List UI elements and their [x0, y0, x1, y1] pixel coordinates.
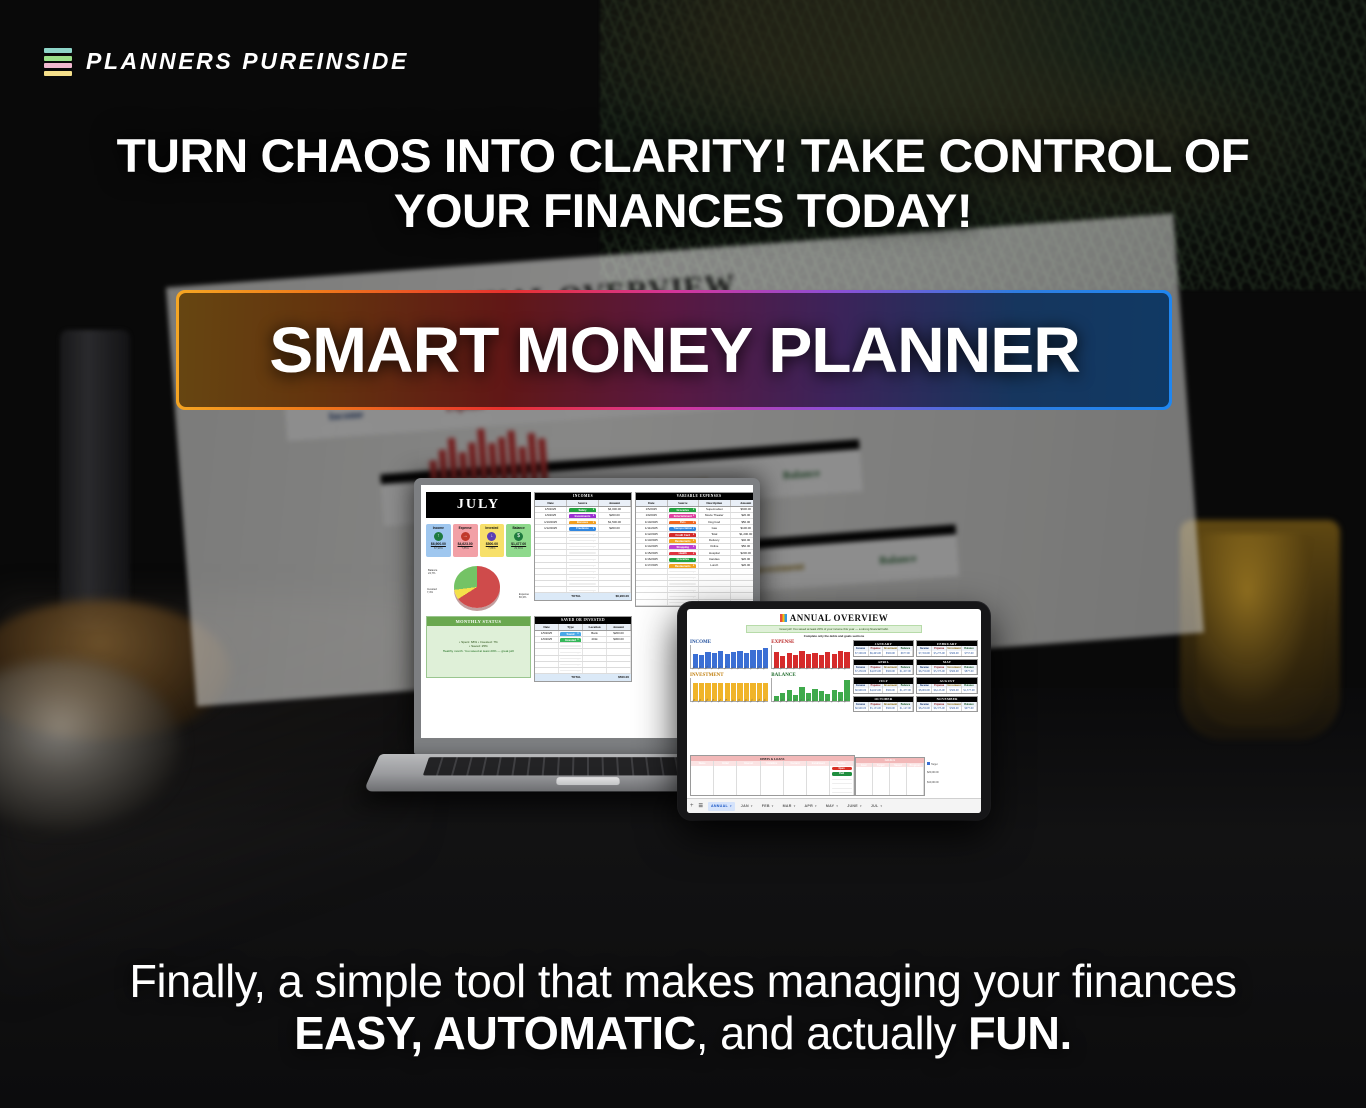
- cell-amount: $40.00: [731, 538, 754, 543]
- cell-source[interactable]: Shopping: [668, 544, 700, 549]
- col-header: Source: [567, 500, 599, 506]
- kpi-icon: ↓: [487, 532, 496, 541]
- cell-description: Supermarket: [699, 507, 731, 512]
- incomes-total-value: $6,900.00: [583, 593, 631, 600]
- variable-expenses-table[interactable]: VARIABLE EXPENSES DateSourceDescriptionA…: [635, 492, 753, 607]
- kpi-icon: →: [461, 532, 470, 541]
- cell-value: $877.00: [962, 670, 977, 675]
- kpi-label: Invested: [481, 526, 504, 530]
- col-header: Date: [535, 500, 567, 506]
- cell-location: 401k: [583, 637, 607, 642]
- cell-value: $500.00: [883, 651, 898, 656]
- saved-invested-title: SAVED OR INVESTED: [535, 617, 631, 624]
- kpi-percent: 7,85%: [481, 547, 504, 550]
- spreadsheet-tab-bar[interactable]: + ☰ ANNUAL▾ JAN▾ FEB▾ MAR▾ APR▾ MAY▾ JUN…: [687, 798, 981, 813]
- cell-goal: [856, 790, 873, 795]
- month-table-april[interactable]: APRIL IncomeExpenseInvestmentBalance $7,…: [853, 659, 915, 676]
- month-value-row: $7,500.00$6,493.00$500.00$677.00: [854, 651, 914, 656]
- cell-source[interactable]: Investments: [567, 513, 599, 518]
- goals-table[interactable]: GOALS GoalTargetSavedProgress Economy $5…: [855, 757, 926, 796]
- month-value-row: $7,250.00$4,053.00$500.00$1,457.00: [854, 670, 914, 675]
- cell-value: $500.00: [947, 707, 962, 712]
- cell-description: Dog food: [699, 519, 731, 524]
- cell-amount: $20.00: [731, 513, 754, 518]
- col-header: Source: [668, 500, 700, 506]
- cell-amount: $100.00: [731, 525, 754, 530]
- bar-chart-icon: [780, 614, 787, 622]
- saved-invested-header-row: DateTypeLocationAmount: [535, 624, 631, 631]
- cell-value: $6,750.00: [917, 670, 932, 675]
- incomes-table-title: INCOMES: [535, 493, 631, 500]
- cell-value: $977.00: [962, 707, 977, 712]
- cell-value: $6,900.00: [854, 707, 869, 712]
- cell-amount: $600.00: [731, 507, 754, 512]
- cell-date: 1/13/2025: [636, 538, 668, 543]
- product-title-box: SMART MONEY PLANNER: [176, 290, 1172, 410]
- lamp-decor: [60, 330, 130, 630]
- cell-value: $500.00: [947, 670, 962, 675]
- month-table-pair: JULY IncomeExpenseInvestmentBalance $6,9…: [853, 677, 978, 696]
- annual-overview-title: ANNUAL OVERVIEW: [687, 609, 981, 624]
- monthly-status-line3: Healthy month. You saved at least 20% — …: [431, 649, 526, 654]
- cell-source[interactable]: Groceries: [668, 556, 700, 561]
- debts-rows: Student Loan $2,000.00 3% 10 3 $240.00 O…: [691, 766, 854, 795]
- cell-date: 1/11/2025: [636, 525, 668, 530]
- cell-amount: $200.00: [607, 631, 631, 636]
- chevron-down-icon[interactable]: ▾: [860, 804, 862, 808]
- debts-loans-table[interactable]: DEBTS & LOANS NameInitialInterestInstall…: [690, 755, 855, 796]
- monthly-status-panel: MONTHLY STATUS • Spent: 68% • Invested: …: [426, 616, 531, 678]
- monthly-status-title: MONTHLY STATUS: [427, 617, 530, 626]
- cell-progress: 0,00%: [907, 790, 924, 795]
- cell-value: $500.00: [883, 670, 898, 675]
- cell-value: $5,275.00: [932, 651, 947, 656]
- cell-description: Movie Theater: [699, 513, 731, 518]
- chart-x-labels: JANFEBMARAPRMAYJUNJULAUGSEPOCTNOVDEC: [771, 702, 849, 704]
- incomes-rows: 1/5/2025 Salary $4,000.00 1/9/2025 Inves…: [535, 507, 631, 594]
- month-title-banner: JULY: [426, 492, 531, 518]
- sheet-tab-jul[interactable]: JUL▾: [868, 802, 886, 811]
- col-header: Date: [636, 500, 668, 506]
- saved-total-label: TOTAL: [535, 674, 583, 681]
- cell-date: 1/10/2025: [535, 519, 567, 524]
- tab-label: ANNUAL: [711, 804, 728, 808]
- cell-value: $5,153.00: [869, 707, 884, 712]
- kpi-value: $500.00: [481, 542, 504, 546]
- cell-amount: $20.00: [731, 563, 754, 568]
- cell-date: 1/16/2025: [636, 556, 668, 561]
- incomes-header-row: DateSourceAmount: [535, 500, 631, 507]
- goals-chart: GOALS Target $20,000.00 $10,000.00: [927, 757, 978, 796]
- cell-source[interactable]: Pets: [668, 519, 700, 524]
- month-value-row: $6,900.00$4,623.00$500.00$1,477.00: [854, 688, 914, 693]
- cell-description: Lunch: [699, 563, 731, 568]
- table-row: 0,00%: [856, 790, 925, 795]
- tagline-bold1: EASY, AUTOMATIC: [294, 1007, 696, 1059]
- cell-source[interactable]: Bonuses: [567, 519, 599, 524]
- month-table-may[interactable]: MAY IncomeExpenseInvestmentBalance $6,75…: [916, 659, 978, 676]
- cell-value: $500.00: [947, 651, 962, 656]
- cell-value: $7,350.00: [917, 651, 932, 656]
- sheet-tab-jan[interactable]: JAN▾: [738, 802, 756, 811]
- chart-investment: INVESTMENT JANFEBMARAPRMAYJUNJULAUGSEPOC…: [690, 673, 768, 704]
- kpi-card-balance: Balance $ $1,477.00 29,66%: [506, 524, 531, 557]
- logo-bar: [44, 56, 72, 61]
- page-headline: TURN CHAOS INTO CLARITY! TAKE CONTROL OF…: [0, 128, 1366, 239]
- chevron-down-icon[interactable]: ▾: [794, 804, 796, 808]
- month-tables-grid: JANUARY IncomeExpenseInvestmentBalance $…: [853, 640, 978, 714]
- cell-description: Gas: [699, 525, 731, 530]
- chevron-down-icon[interactable]: ▾: [751, 804, 753, 808]
- cell-date: 1/12/2025: [535, 525, 567, 530]
- tab-label: JUL: [871, 804, 879, 808]
- cell-source[interactable]: Freelance: [567, 525, 599, 530]
- chart-income: INCOME JANFEBMARAPRMAYJUNJULAUGSEPOCTNOV…: [690, 640, 768, 671]
- brand-name: PLANNERS PUREINSIDE: [86, 48, 409, 75]
- cell-value: $500.00: [883, 707, 898, 712]
- cell-type[interactable]: Saved: [559, 631, 583, 636]
- cell-value: $500.00: [883, 688, 898, 693]
- col-header: Amount: [607, 624, 631, 630]
- cell-amount: $200.00: [599, 513, 631, 518]
- logo-bar: [44, 71, 72, 76]
- pie-graphic: [454, 566, 500, 608]
- month-table-february[interactable]: FEBRUARY IncomeExpenseInvestmentBalance …: [916, 640, 978, 657]
- kpi-percent: 29,66%: [507, 547, 530, 550]
- month-value-row: $6,900.00$5,153.00$500.00$1,147.00: [854, 707, 914, 712]
- month-value-row: $8,250.00$6,375.00$500.00$977.00: [917, 707, 977, 712]
- col-header: Amount: [599, 500, 631, 506]
- chevron-down-icon[interactable]: ▾: [881, 804, 883, 808]
- cell-value: $1,457.00: [898, 670, 913, 675]
- balance-pie-chart: Balance 24,7% Invested 7,4% Expense 66,3…: [426, 561, 531, 613]
- cell-date: 1/14/2025: [636, 544, 668, 549]
- goals-axis-bottom: $10,000.00: [927, 782, 978, 784]
- brand-logo[interactable]: PLANNERS PUREINSIDE: [44, 48, 409, 76]
- cell-source[interactable]: Credit Card: [668, 532, 700, 537]
- goals-rows: Economy $5,000.00 $2,000.00 40,00% New C…: [856, 767, 925, 795]
- charts-row-bottom: INVESTMENT JANFEBMARAPRMAYJUNJULAUGSEPOC…: [690, 673, 850, 706]
- month-table-pair: JANUARY IncomeExpenseInvestmentBalance $…: [853, 640, 978, 659]
- cell-date: 1/9/2025: [636, 513, 668, 518]
- col-header: Amount: [731, 500, 754, 506]
- cell-value: $6,123.00: [932, 688, 947, 693]
- cell-value: $6,493.00: [869, 651, 884, 656]
- month-table-pair: APRIL IncomeExpenseInvestmentBalance $7,…: [853, 659, 978, 678]
- month-value-row: $7,350.00$5,275.00$500.00$757.00: [917, 651, 977, 656]
- cell-amount: $200.00: [731, 550, 754, 555]
- tab-label: APR: [805, 804, 814, 808]
- month-table-october[interactable]: OCTOBER IncomeExpenseInvestmentBalance $…: [853, 696, 915, 713]
- cell-saved: [890, 790, 907, 795]
- page-tagline: Finally, a simple tool that makes managi…: [14, 956, 1353, 1060]
- chart-expense: EXPENSE JANFEBMARAPRMAYJUNJULAUGSEPOCTNO…: [771, 640, 849, 671]
- cell-source[interactable]: Restaurants: [668, 538, 700, 543]
- legend-swatch-icon: [927, 762, 930, 765]
- product-title: SMART MONEY PLANNER: [269, 313, 1080, 387]
- month-table-november[interactable]: NOVEMBER IncomeExpenseInvestmentBalance …: [916, 696, 978, 713]
- chevron-down-icon[interactable]: ▾: [815, 804, 817, 808]
- col-header: Type: [559, 624, 583, 630]
- cell-value: $500.00: [947, 688, 962, 693]
- cell-source[interactable]: Groceries: [668, 507, 700, 512]
- annual-overview-note2: Complete only the debts and goals sectio…: [687, 634, 981, 638]
- tab-label: MAR: [783, 804, 792, 808]
- month-table-july[interactable]: JULY IncomeExpenseInvestmentBalance $6,9…: [853, 677, 915, 694]
- month-value-row: $6,750.00$5,375.00$500.00$877.00: [917, 670, 977, 675]
- kpi-value: $4,623.00: [454, 542, 477, 546]
- cell-source[interactable]: Restaurants: [668, 563, 700, 568]
- cell-value: $4,053.00: [869, 670, 884, 675]
- cell-amount: $1,500.00: [599, 519, 631, 524]
- logo-bar: [44, 48, 72, 53]
- tagline-part1: Finally, a simple tool that makes managi…: [129, 955, 1236, 1007]
- kpi-label: Income: [427, 526, 450, 530]
- variable-expenses-rows: 1/5/2025 Groceries Supermarket $600.00 1…: [636, 507, 753, 606]
- sheet-tab-feb[interactable]: FEB▾: [759, 802, 777, 811]
- cell-description: Total: [699, 532, 731, 537]
- cell-amount: $50.00: [731, 544, 754, 549]
- kpi-value: $1,477.00: [507, 542, 530, 546]
- saved-invested-rows: 1/5/2025 Saved Bank $200.00 1/6/2025 Inv…: [535, 631, 631, 674]
- cell-type[interactable]: Invested: [559, 637, 583, 642]
- sheet-list-icon[interactable]: ☰: [699, 803, 703, 809]
- tagline-part2: , and actually: [696, 1007, 968, 1059]
- cell-date: 1/6/2025: [535, 637, 559, 642]
- pie-label-expense: Expense 66,3%: [519, 593, 529, 599]
- tab-label: FEB: [762, 804, 770, 808]
- sheet-tab-mar[interactable]: MAR▾: [780, 802, 799, 811]
- goals-section: GOALS GoalTargetSavedProgress Economy $5…: [855, 757, 978, 796]
- cell-amount: $4,000.00: [599, 507, 631, 512]
- cell-date: 1/12/2025: [636, 532, 668, 537]
- cell-value: $5,375.00: [932, 670, 947, 675]
- cell-value: $1,477.00: [898, 688, 913, 693]
- cell-amount: $50.00: [731, 519, 754, 524]
- annual-overview-note: Great job! You saved at least 20% of you…: [746, 625, 922, 633]
- logo-bar: [44, 63, 72, 68]
- goals-axis-top: $20,000.00: [927, 772, 978, 774]
- chart-x-labels: JANFEBMARAPRMAYJUNJULAUGSEPOCTNOVDEC: [771, 669, 849, 671]
- cell-value: $7,500.00: [854, 651, 869, 656]
- tablet-screen[interactable]: ANNUAL OVERVIEW Great job! You saved at …: [687, 609, 981, 813]
- saved-total-value: $500.00: [583, 674, 631, 681]
- chart-x-labels: JANFEBMARAPRMAYJUNJULAUGSEPOCTNOVDEC: [690, 669, 768, 671]
- cell-value: $7,250.00: [854, 670, 869, 675]
- cell-date: 1/5/2025: [636, 507, 668, 512]
- cell-value: $1,377.00: [962, 688, 977, 693]
- charts-row-top: INCOME JANFEBMARAPRMAYJUNJULAUGSEPOCTNOV…: [690, 640, 850, 673]
- cell-description: Online: [699, 544, 731, 549]
- kpi-percent: 7,85%: [454, 547, 477, 550]
- chevron-down-icon[interactable]: ▾: [730, 804, 732, 808]
- tablet-device: ANNUAL OVERVIEW Great job! You saved at …: [678, 602, 990, 820]
- cell-source[interactable]: Transportation: [668, 525, 700, 530]
- kpi-card-invested: Invested ↓ $500.00 7,85%: [480, 524, 505, 557]
- col-header: Description: [699, 500, 731, 506]
- kpi-label: Expense: [454, 526, 477, 530]
- kpi-icon: $: [514, 532, 523, 541]
- cell-value: $6,900.00: [854, 688, 869, 693]
- cell-description: Hospital: [699, 550, 731, 555]
- chart-x-labels: JANFEBMARAPRMAYJUNJULAUGSEPOCTNOVDEC: [690, 702, 768, 704]
- cell-value: $8,000.00: [917, 688, 932, 693]
- table-row-empty[interactable]: [691, 790, 854, 795]
- cell-date: 1/5/2025: [535, 507, 567, 512]
- tab-label: JUNE: [847, 804, 858, 808]
- cell-amount: $1,200.00: [731, 532, 754, 537]
- drink-glass-decor: [1180, 520, 1340, 740]
- variable-expenses-header-row: DateSourceDescriptionAmount: [636, 500, 753, 507]
- incomes-total-row: TOTAL $6,900.00: [535, 593, 631, 600]
- incomes-total-label: TOTAL: [535, 593, 583, 600]
- stacked-bars-icon: [44, 48, 72, 76]
- pie-label-balance: Balance 24,7%: [428, 569, 437, 575]
- sheet-tabs[interactable]: ANNUAL▾ JAN▾ FEB▾ MAR▾ APR▾ MAY▾ JUNE▾ J…: [708, 802, 885, 811]
- goals-legend: Target: [927, 762, 978, 766]
- kpi-value: $6,900.00: [427, 542, 450, 546]
- chevron-down-icon[interactable]: ▾: [836, 804, 838, 808]
- cell-value: $1,147.00: [898, 707, 913, 712]
- saved-invested-total-row: TOTAL $500.00: [535, 674, 631, 681]
- cell-date: 1/10/2025: [636, 519, 668, 524]
- laptop-trackpad[interactable]: [556, 777, 620, 785]
- sheet-tab-june[interactable]: JUNE▾: [844, 802, 865, 811]
- cell-target: [873, 790, 890, 795]
- tab-label: MAY: [826, 804, 835, 808]
- cell-source[interactable]: Salary: [567, 507, 599, 512]
- tab-label: JAN: [741, 804, 749, 808]
- col-header: Location: [583, 624, 607, 630]
- cell-date: 1/15/2025: [636, 550, 668, 555]
- cell-description: Delivery: [699, 538, 731, 543]
- cell-date: 1/5/2025: [535, 631, 559, 636]
- variable-expenses-title: VARIABLE EXPENSES: [636, 493, 753, 500]
- cell-description: Candies: [699, 556, 731, 561]
- month-value-row: $8,000.00$6,123.00$500.00$1,377.00: [917, 688, 977, 693]
- cell-value: $8,250.00: [917, 707, 932, 712]
- cell-value: $6,375.00: [932, 707, 947, 712]
- cell-date: 1/9/2025: [535, 513, 567, 518]
- sheet-tab-apr[interactable]: APR▾: [802, 802, 820, 811]
- cell-amount: $20.00: [731, 556, 754, 561]
- add-sheet-icon[interactable]: +: [690, 803, 694, 809]
- kpi-card-row: Income ↑ $6,900.00 67,99% Expense → $4,6…: [426, 524, 531, 557]
- cell-value: $677.00: [898, 651, 913, 656]
- kpi-label: Balance: [507, 526, 530, 530]
- incomes-table[interactable]: INCOMES DateSourceAmount 1/5/2025 Salary…: [534, 492, 632, 601]
- kpi-card-income: Income ↑ $6,900.00 67,99%: [426, 524, 451, 557]
- kpi-card-expense: Expense → $4,623.00 7,85%: [453, 524, 478, 557]
- chevron-down-icon[interactable]: ▾: [772, 804, 774, 808]
- month-table-august[interactable]: AUGUST IncomeExpenseInvestmentBalance $8…: [916, 677, 978, 694]
- pie-label-invested: Invested 7,4%: [427, 588, 437, 594]
- tagline-bold2: FUN.: [968, 1007, 1072, 1059]
- cell-source[interactable]: Health: [668, 550, 700, 555]
- chart-balance: BALANCE JANFEBMARAPRMAYJUNJULAUGSEPOCTNO…: [771, 673, 849, 704]
- month-title: JULY: [457, 496, 500, 514]
- bg-monitor-bars: [426, 410, 548, 488]
- sheet-tab-may[interactable]: MAY▾: [823, 802, 841, 811]
- col-header: Date: [535, 624, 559, 630]
- cell-date: 1/17/2025: [636, 563, 668, 568]
- month-table-pair: OCTOBER IncomeExpenseInvestmentBalance $…: [853, 696, 978, 715]
- month-table-january[interactable]: JANUARY IncomeExpenseInvestmentBalance $…: [853, 640, 915, 657]
- cell-amount: $300.00: [607, 637, 631, 642]
- saved-or-invested-table[interactable]: SAVED OR INVESTED DateTypeLocationAmount…: [534, 616, 632, 682]
- cell-location: Bank: [583, 631, 607, 636]
- cell-value: $4,623.00: [869, 688, 884, 693]
- cell-amount: $200.00: [599, 525, 631, 530]
- kpi-percent: 67,99%: [427, 547, 450, 550]
- sheet-tab-annual[interactable]: ANNUAL▾: [708, 802, 735, 811]
- kpi-icon: ↑: [434, 532, 443, 541]
- cell-source[interactable]: Entertainment: [668, 513, 700, 518]
- cell-value: $757.00: [962, 651, 977, 656]
